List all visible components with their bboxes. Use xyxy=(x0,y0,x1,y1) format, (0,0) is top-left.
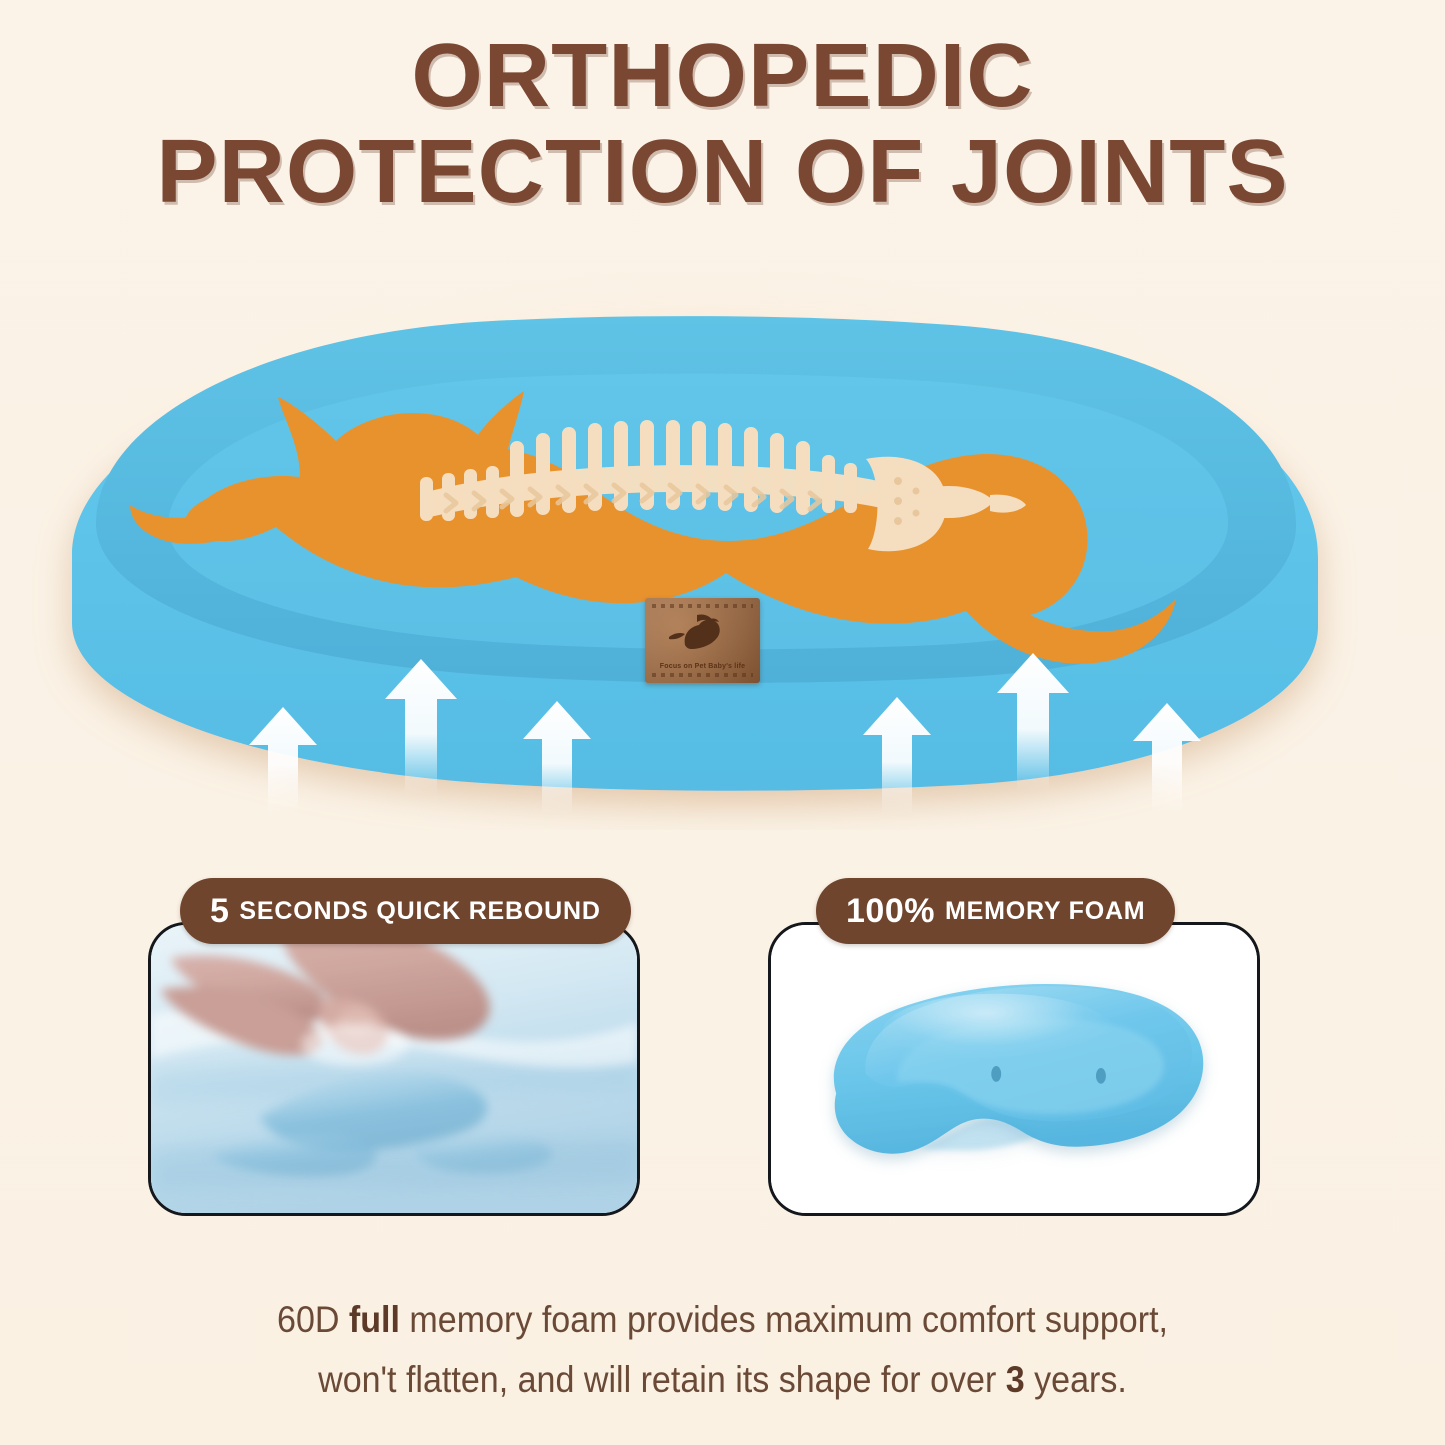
feature-panels: 5 SECONDS QUICK REBOUND xyxy=(0,878,1445,1238)
tag-stitching-bottom xyxy=(652,673,753,677)
vent-hole xyxy=(1096,1068,1106,1084)
title-line-2: PROTECTION OF JOINTS xyxy=(0,124,1445,220)
caption-1-pre: 60D xyxy=(277,1299,349,1340)
panel-memory-foam: 100% MEMORY FOAM xyxy=(768,922,1260,1216)
panel-frame xyxy=(768,922,1260,1216)
panel-quick-rebound: 5 SECONDS QUICK REBOUND xyxy=(148,922,640,1216)
vent-hole xyxy=(991,1066,1001,1082)
hero-illustration xyxy=(0,255,1445,830)
caption-1-post: memory foam provides maximum comfort sup… xyxy=(400,1299,1168,1340)
caption-2-post: years. xyxy=(1025,1359,1127,1400)
footer-caption: 60D full memory foam provides maximum co… xyxy=(58,1290,1387,1410)
tag-brand-text: Focus on Pet Baby's life xyxy=(645,663,760,670)
title-line-1: ORTHOPEDIC xyxy=(0,28,1445,124)
sleeping-pet-logo-icon xyxy=(645,609,760,657)
tag-stitching-top xyxy=(652,604,753,608)
badge-value: 5 xyxy=(210,894,229,928)
hand-pressing-memory-foam-photo xyxy=(151,925,637,1213)
caption-2-bold: 3 xyxy=(1006,1359,1025,1400)
panel-frame xyxy=(148,922,640,1216)
badge-memory-foam: 100% MEMORY FOAM xyxy=(816,878,1175,944)
caption-2-pre: won't flatten, and will retain its shape… xyxy=(318,1359,1006,1400)
caption-line-1: 60D full memory foam provides maximum co… xyxy=(58,1290,1387,1350)
badge-quick-rebound: 5 SECONDS QUICK REBOUND xyxy=(180,878,631,944)
page-title: ORTHOPEDIC PROTECTION OF JOINTS xyxy=(0,28,1445,221)
badge-label: MEMORY FOAM xyxy=(945,899,1145,924)
brand-leather-tag: Focus on Pet Baby's life xyxy=(645,598,760,683)
badge-label: SECONDS QUICK REBOUND xyxy=(239,899,600,924)
blue-memory-foam-bed-photo xyxy=(771,925,1257,1213)
caption-1-bold: full xyxy=(349,1299,400,1340)
caption-line-2: won't flatten, and will retain its shape… xyxy=(58,1350,1387,1410)
infographic-page: ORTHOPEDIC PROTECTION OF JOINTS xyxy=(0,0,1445,1445)
badge-value: 100% xyxy=(846,894,935,928)
